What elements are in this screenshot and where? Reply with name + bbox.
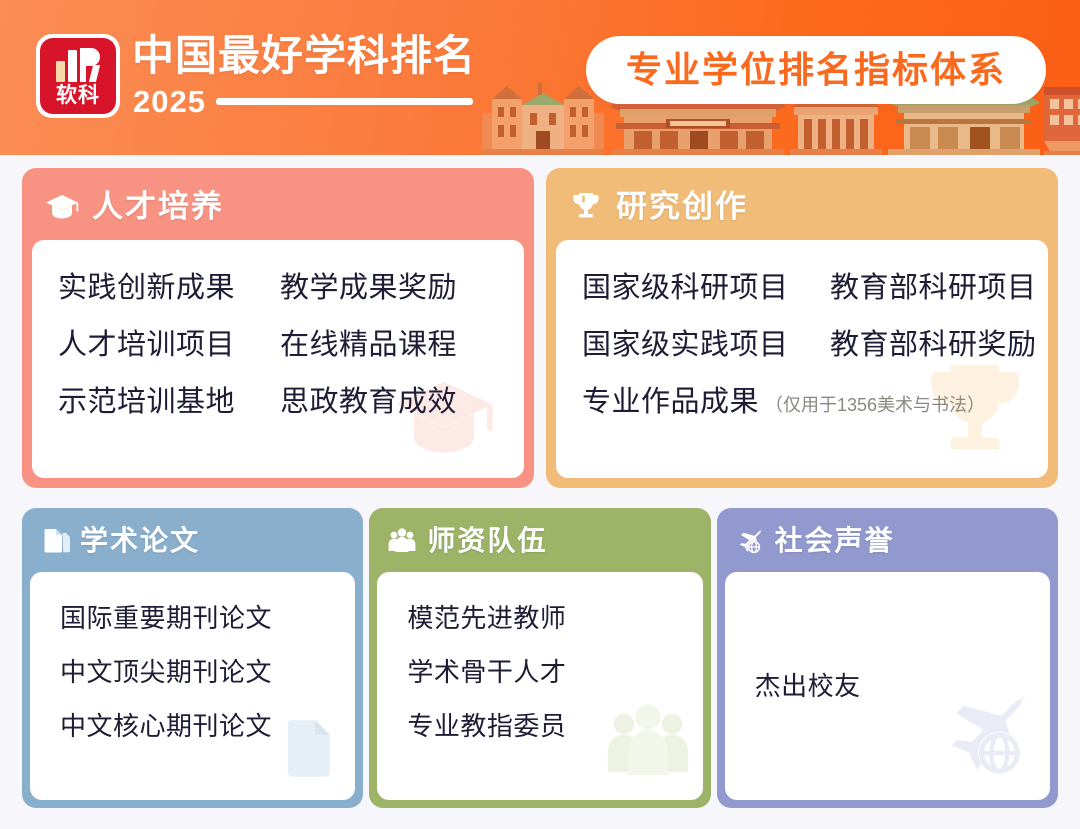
indicator-rows: 实践创新成果 教学成果奖励 人才培训项目 在线精品课程 示范培训基地 思政教育成… xyxy=(32,274,524,445)
indicator-item: 中文核心期刊论文 xyxy=(60,713,272,739)
indicator-item: 思政教育成效 xyxy=(280,388,457,417)
card-research-creation[interactable]: 研究创作 国家级科研项目 教育部科研项目 国家级实践项目 教育部科研奖励 xyxy=(546,168,1058,488)
card-header: 社会声誉 xyxy=(717,508,1058,572)
brand-year: 2025 xyxy=(133,86,206,117)
card-body: 实践创新成果 教学成果奖励 人才培训项目 在线精品课程 示范培训基地 思政教育成… xyxy=(32,240,524,478)
card-body: 国际重要期刊论文 中文顶尖期刊论文 中文核心期刊论文 xyxy=(30,572,355,800)
logo-mark-icon xyxy=(56,48,100,82)
people-group-icon xyxy=(387,526,417,556)
indicator-row: 专业作品成果 （仅用于1356美术与书法） xyxy=(582,388,1048,445)
indicator-item: 示范培训基地 xyxy=(58,388,280,417)
card-body: 模范先进教师 学术骨干人才 专业教指委员 xyxy=(377,572,702,800)
indicator-rows: 杰出校友 xyxy=(725,572,1050,800)
trophy-icon xyxy=(568,188,604,224)
card-social-reputation[interactable]: 社会声誉 杰出校友 xyxy=(717,508,1058,808)
indicator-item: 实践创新成果 xyxy=(58,274,280,303)
graduation-cap-icon xyxy=(44,188,80,224)
indicator-rows: 模范先进教师 学术骨干人才 专业教指委员 xyxy=(377,605,702,767)
indicator-row: 实践创新成果 教学成果奖励 xyxy=(58,274,524,331)
indicator-item: 专业作品成果 xyxy=(582,388,759,417)
brand-title: 中国最好学科排名 xyxy=(132,33,476,79)
card-header: 师资队伍 xyxy=(369,508,710,572)
indicator-row: 示范培训基地 思政教育成效 xyxy=(58,388,524,445)
indicator-item: 国家级实践项目 xyxy=(582,331,830,360)
indicator-row: 专业教指委员 xyxy=(407,713,702,767)
indicator-item: 杰出校友 xyxy=(755,673,861,699)
indicator-note: （仅用于1356美术与书法） xyxy=(765,391,985,417)
indicator-item: 专业教指委员 xyxy=(407,713,566,739)
card-title: 人才培养 xyxy=(92,191,224,222)
indicator-row: 模范先进教师 xyxy=(407,605,702,659)
card-academic-papers[interactable]: 学术论文 国际重要期刊论文 中文顶尖期刊论文 中文核心期刊论文 xyxy=(22,508,363,808)
card-title: 师资队伍 xyxy=(427,527,547,555)
infographic-page: 软科 中国最好学科排名 2025 专业学位排名指标体系 人才培养 xyxy=(0,0,1080,829)
indicator-item: 教育部科研项目 xyxy=(830,274,1037,303)
card-header: 学术论文 xyxy=(22,508,363,572)
indicator-rows: 国际重要期刊论文 中文顶尖期刊论文 中文核心期刊论文 xyxy=(30,605,355,767)
indicator-item: 模范先进教师 xyxy=(407,605,566,631)
card-header: 人才培养 xyxy=(22,168,534,240)
brand-year-row: 2025 xyxy=(133,86,473,117)
indicator-row: 国家级实践项目 教育部科研奖励 xyxy=(582,331,1048,388)
indicator-row: 学术骨干人才 xyxy=(407,659,702,713)
card-talent-cultivation[interactable]: 人才培养 实践创新成果 教学成果奖励 人才培训项目 在线精品课程 xyxy=(22,168,534,488)
page-header: 软科 中国最好学科排名 2025 专业学位排名指标体系 xyxy=(0,0,1080,155)
indicator-rows: 国家级科研项目 教育部科研项目 国家级实践项目 教育部科研奖励 专业作品成果 （… xyxy=(556,274,1048,445)
indicator-item: 在线精品课程 xyxy=(280,331,457,360)
page-title-badge: 专业学位排名指标体系 xyxy=(586,36,1046,104)
brand-rule-divider xyxy=(216,98,473,105)
indicator-item: 人才培训项目 xyxy=(58,331,280,360)
page-title: 专业学位排名指标体系 xyxy=(626,52,1006,88)
indicator-item: 国际重要期刊论文 xyxy=(60,605,272,631)
card-title: 研究创作 xyxy=(616,191,748,222)
indicator-item: 国家级科研项目 xyxy=(582,274,830,303)
card-title: 学术论文 xyxy=(80,527,200,555)
indicator-row: 人才培训项目 在线精品课程 xyxy=(58,331,524,388)
logo-text: 软科 xyxy=(40,85,116,106)
airplane-globe-icon xyxy=(735,526,765,556)
card-grid-bottom: 学术论文 国际重要期刊论文 中文顶尖期刊论文 中文核心期刊论文 xyxy=(22,508,1058,808)
indicator-row: 国家级科研项目 教育部科研项目 xyxy=(582,274,1048,331)
indicator-item: 教学成果奖励 xyxy=(280,274,457,303)
card-body: 国家级科研项目 教育部科研项目 国家级实践项目 教育部科研奖励 专业作品成果 （… xyxy=(556,240,1048,478)
card-header: 研究创作 xyxy=(546,168,1058,240)
indicator-item: 学术骨干人才 xyxy=(407,659,566,685)
card-faculty-team[interactable]: 师资队伍 模范先进教师 学术骨干人才 专业教指委员 xyxy=(369,508,710,808)
indicator-item: 中文顶尖期刊论文 xyxy=(60,659,272,685)
indicator-row: 中文顶尖期刊论文 xyxy=(60,659,355,713)
ruanke-logo: 软科 xyxy=(36,34,120,118)
card-title: 社会声誉 xyxy=(775,527,895,555)
card-body: 杰出校友 xyxy=(725,572,1050,800)
indicator-row: 国际重要期刊论文 xyxy=(60,605,355,659)
indicator-item: 教育部科研奖励 xyxy=(830,331,1037,360)
document-icon xyxy=(40,526,70,556)
indicator-row: 中文核心期刊论文 xyxy=(60,713,355,767)
card-grid-top: 人才培养 实践创新成果 教学成果奖励 人才培训项目 在线精品课程 xyxy=(22,168,1058,488)
